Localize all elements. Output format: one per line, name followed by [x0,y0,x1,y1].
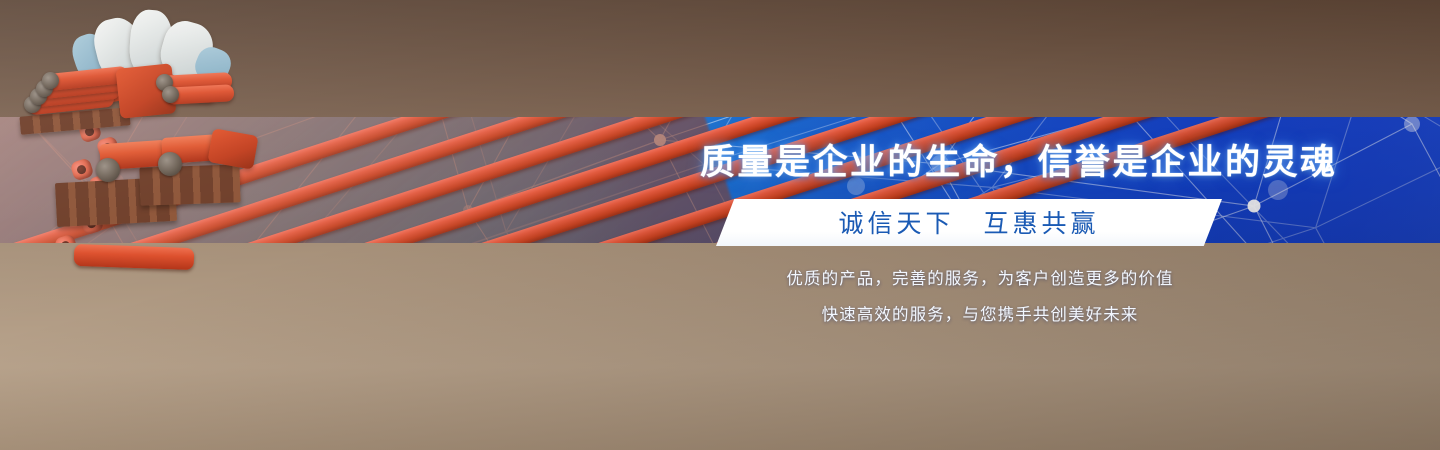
promo-banner: 质量是企业的生命，信誉是企业的灵魂 诚信天下 互惠共赢 优质的产品，完善的服务，… [0,0,1440,450]
photo-shafts-on-pallets-content [7,219,299,450]
slogan-ribbon-text: 诚信天下 互惠共赢 [716,199,1222,246]
headline-text: 质量是企业的生命，信誉是企业的灵魂 [700,134,1260,185]
product-photo-shafts-on-pallets[interactable] [0,212,206,418]
subline-1: 优质的产品，完善的服务，为客户创造更多的价值 [700,265,1260,289]
subline-2: 快速高效的服务，与您携手共创美好未来 [700,301,1260,325]
slogan-ribbon: 诚信天下 互惠共赢 [716,199,1222,246]
